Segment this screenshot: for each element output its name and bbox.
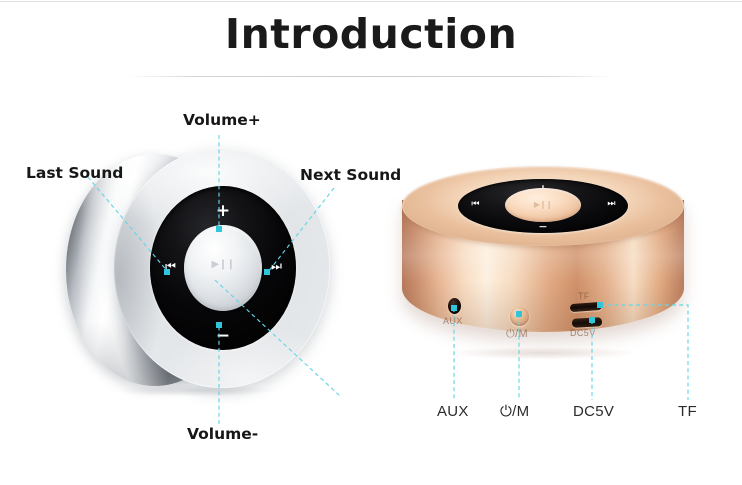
- power-mode-engraved-label: ⏻/M: [506, 329, 528, 340]
- title-underline: [128, 76, 614, 77]
- gold-next-track-icon[interactable]: ⏭: [596, 200, 626, 209]
- gold-previous-track-icon[interactable]: ⏮: [460, 200, 490, 209]
- callout-label-tf: TF: [678, 404, 697, 419]
- volume-down-icon[interactable]: −: [204, 328, 242, 345]
- callout-label-volume-up: Volume+: [183, 113, 261, 129]
- gold-volume-down-icon[interactable]: −: [526, 221, 560, 232]
- dc5v-engraved-label: DC5V: [570, 329, 596, 338]
- callout-label-dc5v: DC5V: [573, 404, 614, 419]
- callout-label-power-mode: ⏻/M: [500, 404, 529, 419]
- tf-engraved-label: TF: [578, 292, 590, 301]
- aux-port[interactable]: [448, 298, 461, 314]
- dc5v-usb-port[interactable]: [572, 317, 602, 328]
- gold-play-pause-icon: ▶❙❙: [505, 201, 581, 209]
- silver-bluetooth-speaker: + − ⏮ ⏭ ▶❙❙: [66, 148, 330, 396]
- power-mode-button[interactable]: [510, 307, 529, 326]
- callout-label-aux: AUX: [437, 404, 469, 419]
- introduction-page: Introduction + − ⏮ ⏭ ▶❙❙ + − ⏮ ⏭ ▶❙❙ AUX: [0, 0, 742, 485]
- page-title: Introduction: [0, 14, 742, 55]
- aux-engraved-label: AUX: [443, 317, 463, 326]
- gold-bluetooth-speaker: + − ⏮ ⏭ ▶❙❙ AUX ⏻/M TF DC5V: [398, 166, 688, 358]
- callout-label-next-sound: Next Sound: [300, 168, 401, 184]
- callout-label-last-sound: Last Sound: [26, 166, 123, 182]
- previous-track-icon[interactable]: ⏮: [154, 260, 186, 272]
- callout-label-volume-down: Volume-: [187, 427, 258, 443]
- next-track-icon[interactable]: ⏭: [260, 260, 292, 272]
- top-divider: [0, 1, 742, 2]
- play-pause-icon: ▶❙❙: [184, 260, 262, 270]
- volume-up-icon[interactable]: +: [204, 203, 242, 220]
